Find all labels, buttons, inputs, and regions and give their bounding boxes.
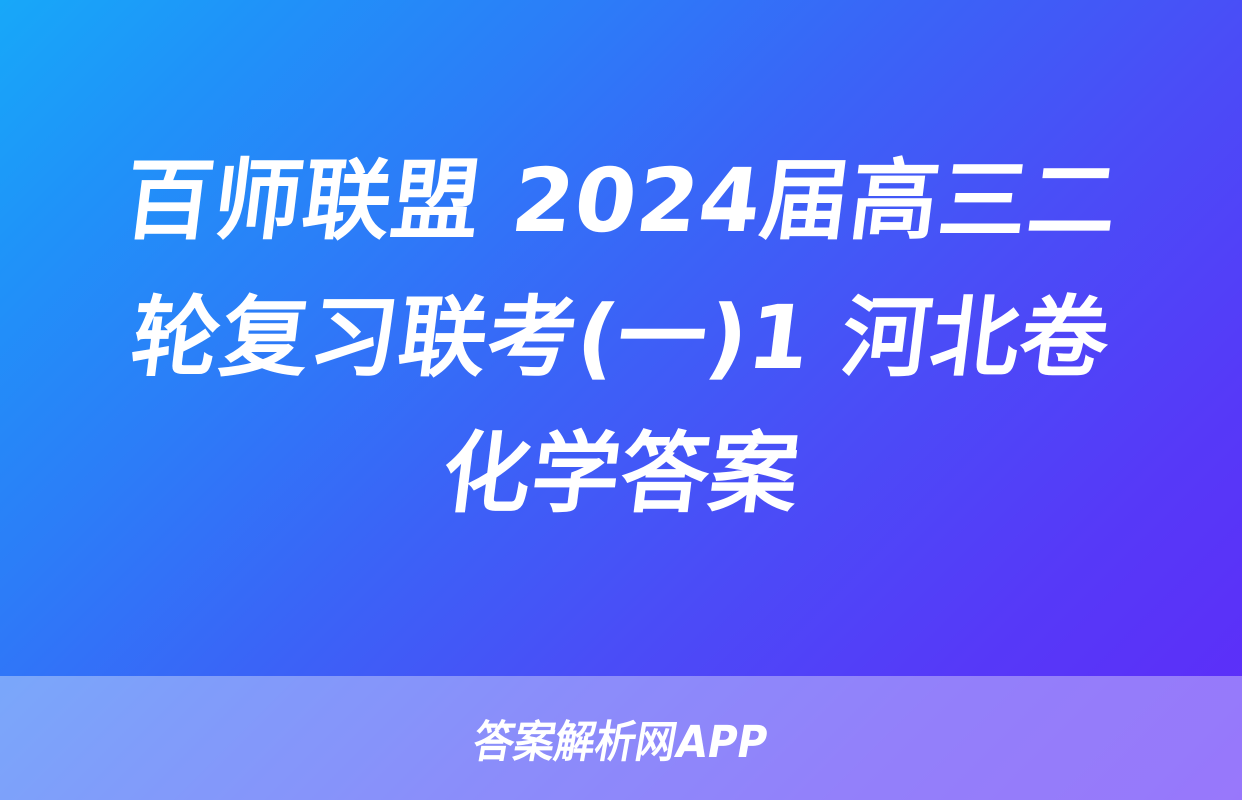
watermark-band: 答案解析网APP bbox=[0, 676, 1242, 800]
answer-cover-card: 百师联盟 2024届高三二 轮复习联考(一)1 河北卷 化学答案 答案解析网AP… bbox=[0, 0, 1242, 800]
title-line-1: 百师联盟 2024届高三二 bbox=[116, 133, 1125, 269]
title-line-3: 化学答案 bbox=[435, 406, 808, 542]
title-line-2: 轮复习联考(一)1 河北卷 bbox=[124, 270, 1118, 406]
title-block: 百师联盟 2024届高三二 轮复习联考(一)1 河北卷 化学答案 bbox=[0, 0, 1242, 676]
watermark-label: 答案解析网APP bbox=[469, 706, 773, 770]
